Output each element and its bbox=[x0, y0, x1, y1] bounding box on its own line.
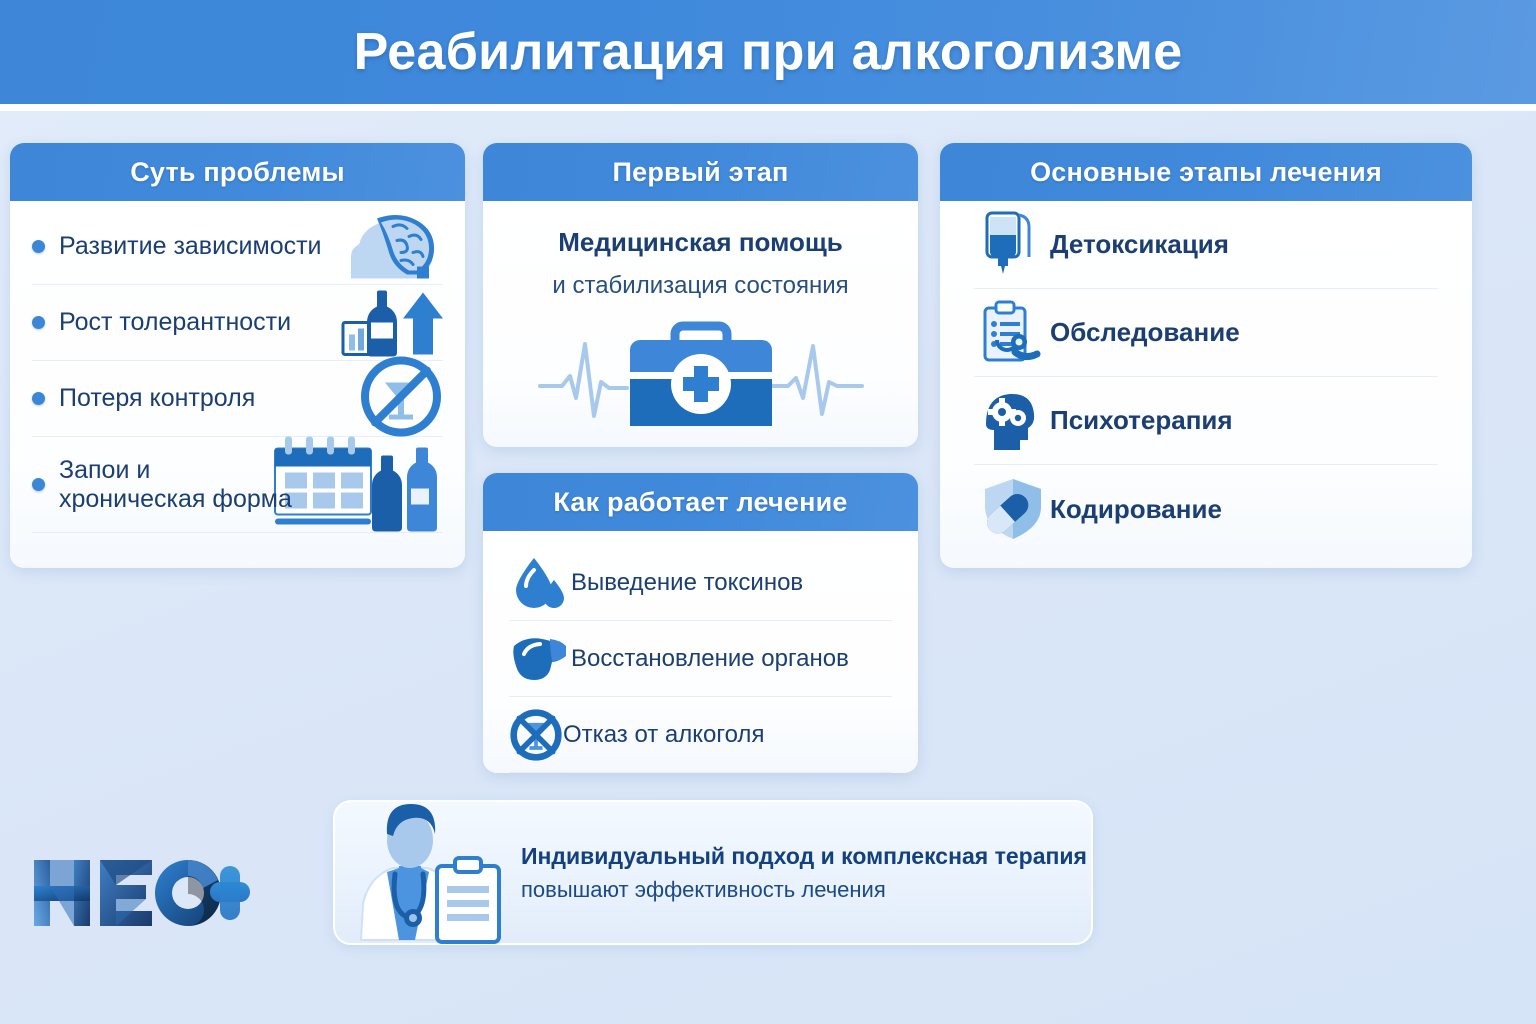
list-item-label: Выведение токсинов bbox=[571, 569, 803, 597]
first-stage-line1: Медицинская помощь bbox=[483, 227, 918, 258]
card-main-stages-title: Основные этапы лечения bbox=[1030, 157, 1382, 188]
card-first-stage: Первый этап Медицинская помощь и стабили… bbox=[483, 143, 918, 447]
clipboard-stethoscope-icon bbox=[974, 300, 1050, 366]
card-main-stages: Основные этапы лечения Детоксикация bbox=[940, 143, 1472, 568]
card-main-stages-body: Детоксикация Обследовани bbox=[940, 201, 1472, 568]
pill-shield-icon bbox=[974, 477, 1050, 541]
list-item[interactable]: Развитие зависимости bbox=[32, 209, 443, 285]
card-problem-header: Суть проблемы bbox=[10, 143, 465, 201]
first-stage-line2: и стабилизация состояния bbox=[483, 272, 918, 300]
logo-neo-plus[interactable] bbox=[32, 852, 250, 941]
card-first-stage-title: Первый этап bbox=[613, 157, 789, 188]
list-item[interactable]: Рост толерантности bbox=[32, 285, 443, 361]
bullet-icon bbox=[32, 316, 45, 329]
list-item[interactable]: Кодирование bbox=[974, 465, 1438, 553]
header-underline bbox=[0, 104, 1536, 111]
card-problem: Суть проблемы Развитие зависимости bbox=[10, 143, 465, 568]
card-problem-body: Развитие зависимости bbox=[10, 201, 465, 568]
list-item-label: Детоксикация bbox=[1050, 229, 1229, 260]
list-item[interactable]: Психотерапия bbox=[974, 377, 1438, 465]
list-item[interactable]: Обследование bbox=[974, 289, 1438, 377]
card-how-title: Как работает лечение bbox=[553, 487, 847, 518]
list-item-label: Рост толерантности bbox=[59, 308, 291, 337]
head-gears-icon bbox=[974, 388, 1050, 454]
first-stage-text: Медицинская помощь и стабилизация состоя… bbox=[483, 201, 918, 300]
liver-icon bbox=[509, 636, 571, 682]
bottle-growth-arrow-icon bbox=[341, 282, 443, 363]
brain-head-icon bbox=[347, 208, 443, 285]
how-list: Выведение токсинов Восстановление органо… bbox=[483, 531, 918, 773]
list-item[interactable]: Восстановление органов bbox=[509, 621, 892, 697]
card-first-stage-header: Первый этап bbox=[483, 143, 918, 201]
first-aid-kit-ecg-icon bbox=[483, 314, 918, 432]
card-main-stages-header: Основные этапы лечения bbox=[940, 143, 1472, 201]
card-how-body: Выведение токсинов Восстановление органо… bbox=[483, 531, 918, 773]
bullet-icon bbox=[32, 478, 45, 491]
card-problem-title: Суть проблемы bbox=[130, 157, 345, 188]
list-item-label: Восстановление органов bbox=[571, 645, 849, 673]
list-item[interactable]: Запои и хроническая форма bbox=[32, 437, 443, 533]
list-item[interactable]: Потеря контроля bbox=[32, 361, 443, 437]
card-first-stage-body: Медицинская помощь и стабилизация состоя… bbox=[483, 201, 918, 447]
iv-drip-icon bbox=[974, 209, 1050, 281]
doctor-clipboard-icon bbox=[351, 788, 523, 961]
banner-individual-approach: Индивидуальный подход и комплексная тера… bbox=[333, 800, 1093, 945]
list-item[interactable]: Отказ от алкоголя bbox=[509, 697, 892, 773]
calendar-bottles-icon bbox=[269, 430, 447, 539]
page-header: Реабилитация при алкоголизме bbox=[0, 0, 1536, 104]
list-item-label: Психотерапия bbox=[1050, 405, 1233, 436]
page-title: Реабилитация при алкоголизме bbox=[354, 22, 1183, 82]
list-item-label: Отказ от алкоголя bbox=[563, 721, 764, 749]
list-item-label: Потеря контроля bbox=[59, 384, 255, 413]
no-alcohol-crossed-icon bbox=[509, 706, 563, 764]
list-item-label: Запои и хроническая форма bbox=[59, 456, 292, 514]
card-how-treatment-works: Как работает лечение Выведение токсинов bbox=[483, 473, 918, 773]
banner-line2: повышают эффективность лечения bbox=[521, 877, 1087, 903]
list-item[interactable]: Детоксикация bbox=[974, 201, 1438, 289]
bullet-icon bbox=[32, 240, 45, 253]
banner-text: Индивидуальный подход и комплексная тера… bbox=[521, 843, 1087, 903]
banner-line1: Индивидуальный подход и комплексная тера… bbox=[521, 843, 1087, 870]
bullet-icon bbox=[32, 392, 45, 405]
list-item-label: Развитие зависимости bbox=[59, 232, 322, 261]
water-drop-icon bbox=[509, 556, 571, 610]
list-item-label: Обследование bbox=[1050, 317, 1240, 348]
list-item-label: Кодирование bbox=[1050, 494, 1222, 525]
list-item[interactable]: Выведение токсинов bbox=[509, 545, 892, 621]
card-how-header: Как работает лечение bbox=[483, 473, 918, 531]
problem-list: Развитие зависимости bbox=[10, 201, 465, 533]
